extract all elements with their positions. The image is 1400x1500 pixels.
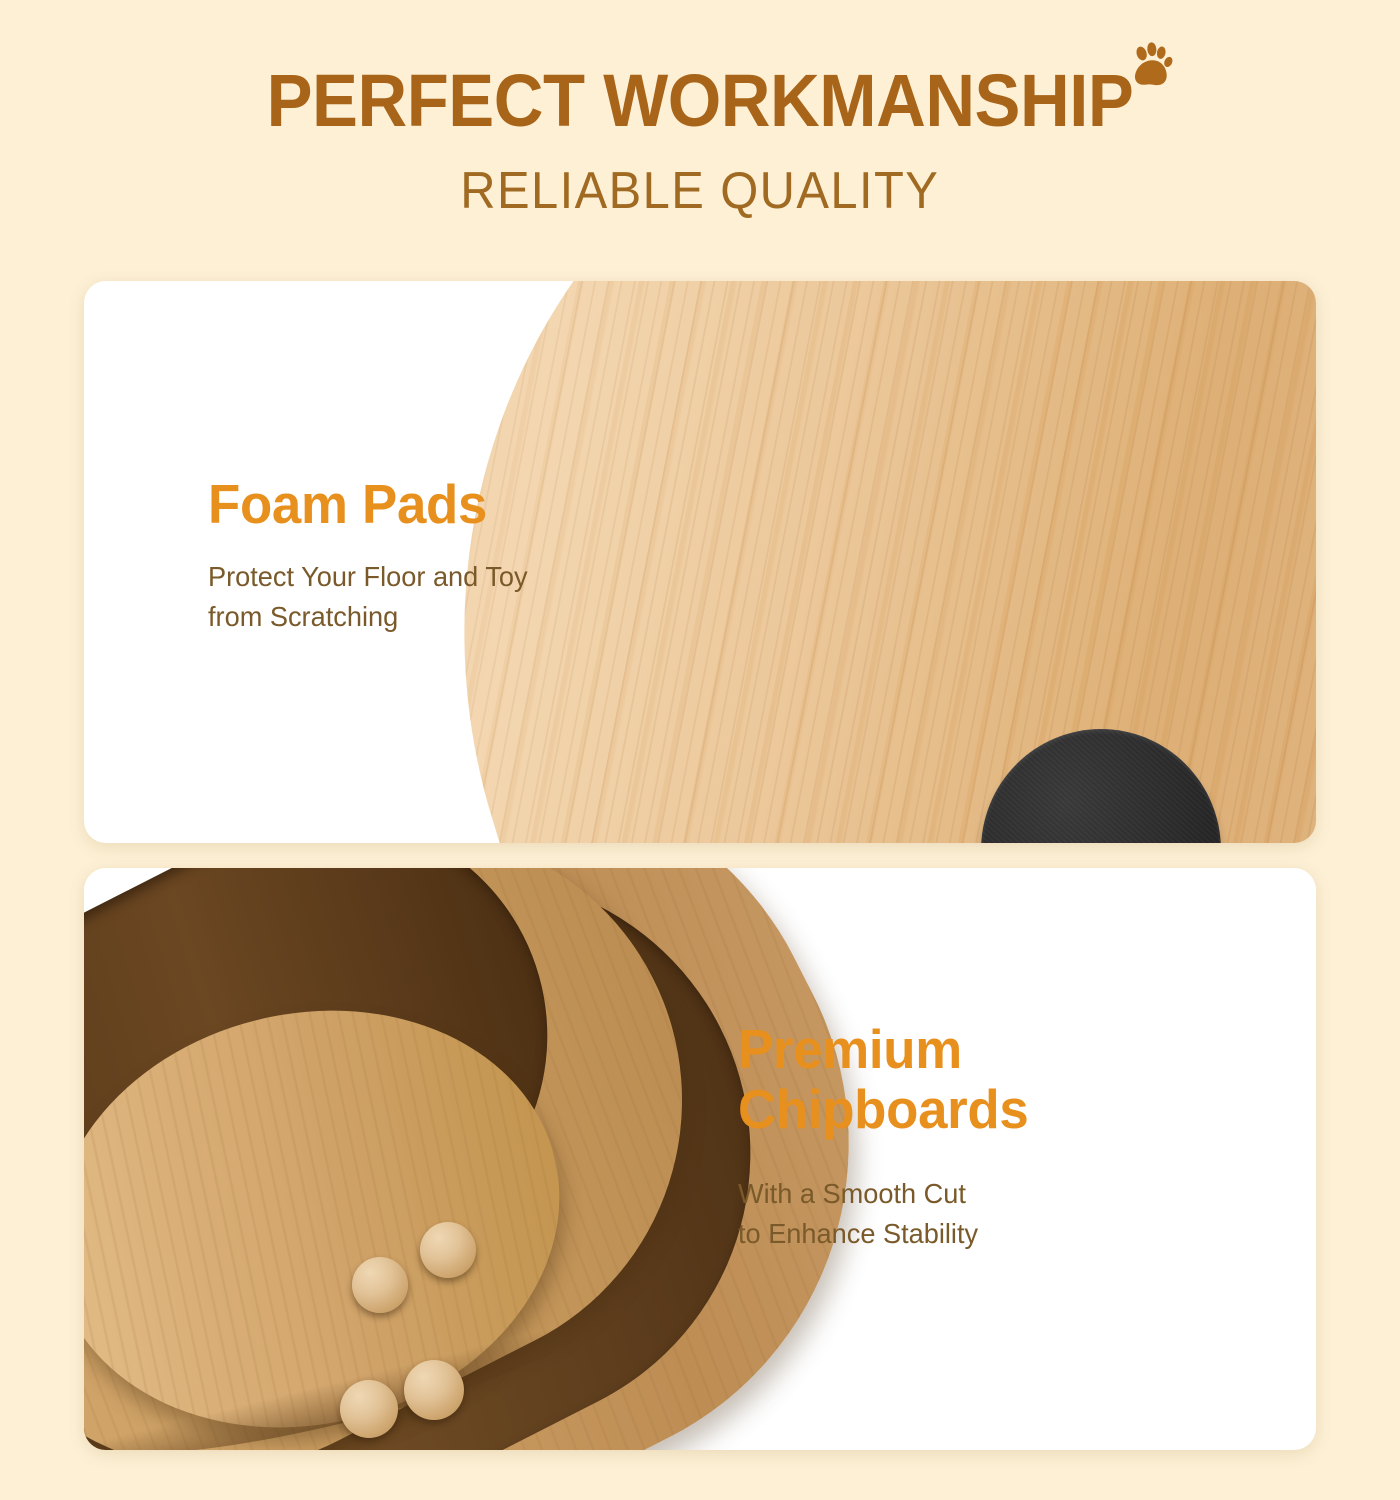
subheadline-container: RELIABLE QUALITY xyxy=(0,165,1400,217)
feature-card-foam-pads: Foam Pads Protect Your Floor and Toy fro… xyxy=(84,281,1316,843)
wooden-ball xyxy=(404,1360,464,1420)
chipboard-product-photo xyxy=(84,868,1316,1450)
wooden-ball xyxy=(352,1257,408,1313)
headline-container: PERFECT WORKMANSHIP xyxy=(0,64,1400,138)
chipboards-text-block: Premium Chipboards With a Smooth Cut to … xyxy=(738,1020,1041,1253)
page-subtitle: RELIABLE QUALITY xyxy=(461,165,940,217)
foam-pads-text-block: Foam Pads Protect Your Floor and Toy fro… xyxy=(208,475,537,636)
feature-card-premium-chipboards: Premium Chipboards With a Smooth Cut to … xyxy=(84,868,1316,1450)
chipboards-title: Premium Chipboards xyxy=(738,1020,1028,1140)
page-header: PERFECT WORKMANSHIP RELIABLE QUALITY xyxy=(0,0,1400,250)
product-feature-page: PERFECT WORKMANSHIP RELIABLE QUALITY xyxy=(0,0,1400,1500)
page-title: PERFECT WORKMANSHIP xyxy=(267,64,1134,138)
foam-pads-subtitle: Protect Your Floor and Toy from Scratchi… xyxy=(208,557,528,637)
chipboards-subtitle: With a Smooth Cut to Enhance Stability xyxy=(738,1174,1031,1254)
paw-print-icon xyxy=(1126,32,1176,86)
foam-pads-title: Foam Pads xyxy=(208,475,524,535)
wooden-ball xyxy=(340,1380,398,1438)
wooden-ball xyxy=(420,1222,476,1278)
page-title-text: PERFECT WORKMANSHIP xyxy=(267,59,1134,142)
